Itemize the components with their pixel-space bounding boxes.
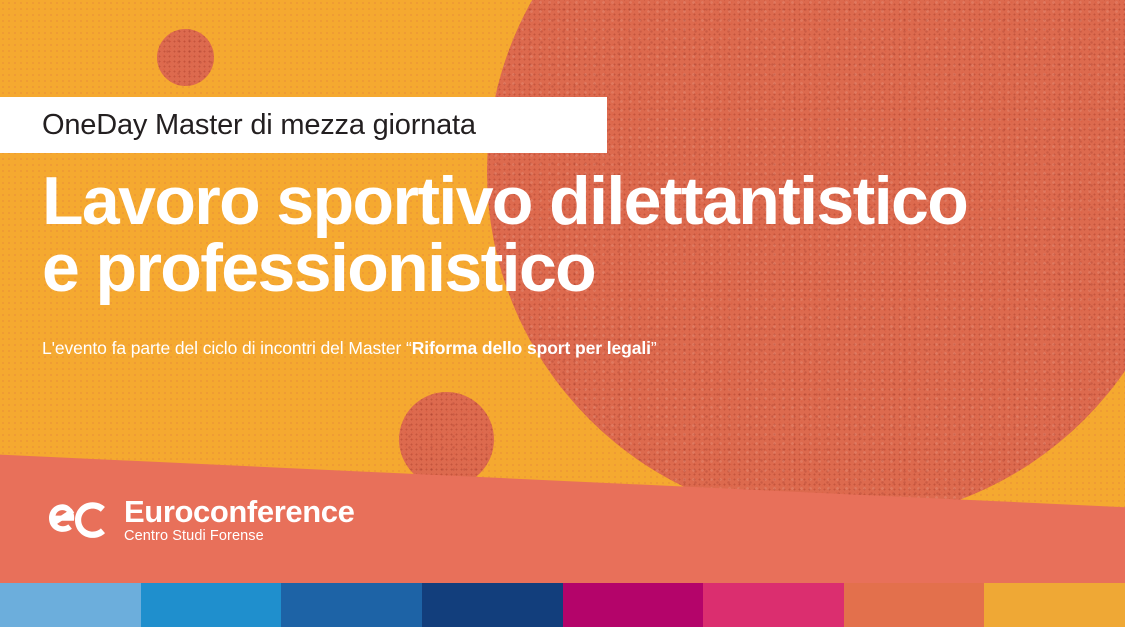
circle-medium-center xyxy=(399,392,494,487)
logo-tagline: Centro Studi Forense xyxy=(124,529,354,545)
stripe-magenta xyxy=(563,583,704,627)
stripe-steel-blue xyxy=(281,583,422,627)
ec-monogram-icon xyxy=(42,496,110,544)
circle-grain-texture xyxy=(157,29,214,86)
page-title: Lavoro sportivo dilettantistico e profes… xyxy=(42,168,1102,301)
circle-grain-texture xyxy=(399,392,494,487)
euroconference-logo: Euroconference Centro Studi Forense xyxy=(42,496,354,545)
eyebrow-label: OneDay Master di mezza giornata xyxy=(0,109,476,142)
stripe-navy xyxy=(422,583,563,627)
stripe-blue xyxy=(141,583,282,627)
headline-line-2: e professionistico xyxy=(42,235,1102,302)
eyebrow-badge: OneDay Master di mezza giornata xyxy=(0,97,607,153)
logo-brand-name: Euroconference xyxy=(124,496,354,528)
subtitle: L'evento fa parte del ciclo di incontri … xyxy=(42,338,657,359)
subtitle-emphasis: Riforma dello sport per legali xyxy=(412,338,651,358)
stripe-light-blue xyxy=(0,583,141,627)
stripe-coral xyxy=(844,583,985,627)
stripe-amber xyxy=(984,583,1125,627)
color-stripe-bar xyxy=(0,583,1125,627)
circle-small-top-left xyxy=(157,29,214,86)
subtitle-lead: L'evento fa parte del ciclo di incontri … xyxy=(42,338,412,358)
event-promo-banner: OneDay Master di mezza giornata Lavoro s… xyxy=(0,0,1125,627)
subtitle-trail: ” xyxy=(651,338,657,358)
stripe-pink xyxy=(703,583,844,627)
logo-text-block: Euroconference Centro Studi Forense xyxy=(124,496,354,545)
headline-line-1: Lavoro sportivo dilettantistico xyxy=(42,168,1102,235)
